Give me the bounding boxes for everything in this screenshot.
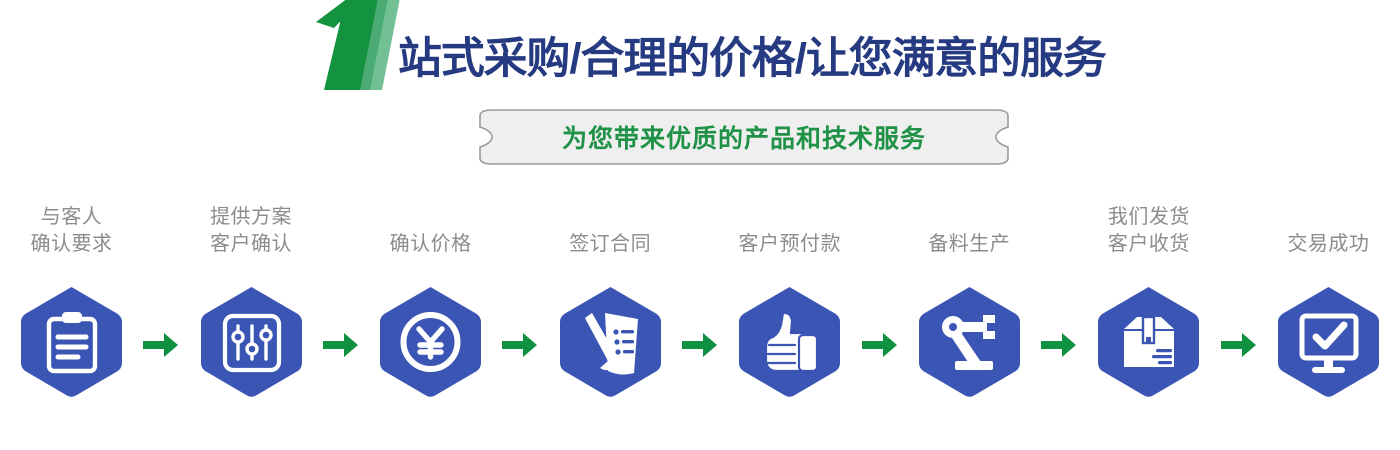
package-box-icon: [1124, 317, 1174, 367]
process-flow: 与客人 确认要求 提供方案 客户确认: [0, 196, 1400, 406]
flow-step-4: 签订合同: [541, 196, 680, 400]
step-hexagon-7[interactable]: [1096, 285, 1201, 400]
flow-arrow-2: [321, 330, 361, 360]
step-hexagon-2[interactable]: [199, 285, 304, 400]
page-headline: 站式采购/合理的价格/让您满意的服务: [398, 33, 1106, 85]
flow-arrow-3: [500, 330, 540, 360]
page-header: 站式采购/合理的价格/让您满意的服务 为您带来优质的产品和技术服务: [0, 0, 1400, 110]
logo-numeral-one: [312, 0, 408, 98]
step-label-3: 确认价格: [390, 196, 472, 258]
step-hexagon-5[interactable]: [737, 285, 842, 400]
step-label-1: 与客人 确认要求: [31, 196, 113, 258]
flow-arrow-5: [860, 330, 900, 360]
flow-arrow-6: [1039, 330, 1079, 360]
flow-step-8: 交易成功: [1259, 196, 1398, 400]
step-label-6: 备料生产: [928, 196, 1010, 258]
step-label-7: 我们发货 客户收货: [1108, 196, 1190, 258]
flow-step-5: 客户预付款: [720, 196, 859, 400]
step-hexagon-8[interactable]: [1276, 285, 1381, 400]
step-label-5: 客户预付款: [739, 196, 842, 258]
step-hexagon-1[interactable]: [19, 285, 124, 400]
flow-step-7: 我们发货 客户收货: [1079, 196, 1218, 400]
step-hexagon-6[interactable]: [917, 285, 1022, 400]
step-label-4: 签订合同: [569, 196, 651, 258]
flow-arrow-1: [141, 330, 181, 360]
flow-step-1: 与客人 确认要求: [2, 196, 141, 400]
step-hexagon-3[interactable]: [378, 285, 483, 400]
banner-text: 为您带来优质的产品和技术服务: [478, 109, 1010, 165]
flow-arrow-4: [680, 330, 720, 360]
flow-arrow-7: [1219, 330, 1259, 360]
flow-step-6: 备料生产: [900, 196, 1039, 400]
step-label-8: 交易成功: [1287, 196, 1369, 258]
step-hexagon-4[interactable]: [558, 285, 663, 400]
flow-step-3: 确认价格: [361, 196, 500, 400]
step-label-2: 提供方案 客户确认: [210, 196, 292, 258]
flow-step-2: 提供方案 客户确认: [182, 196, 321, 400]
subtitle-banner: 为您带来优质的产品和技术服务: [478, 109, 1010, 165]
